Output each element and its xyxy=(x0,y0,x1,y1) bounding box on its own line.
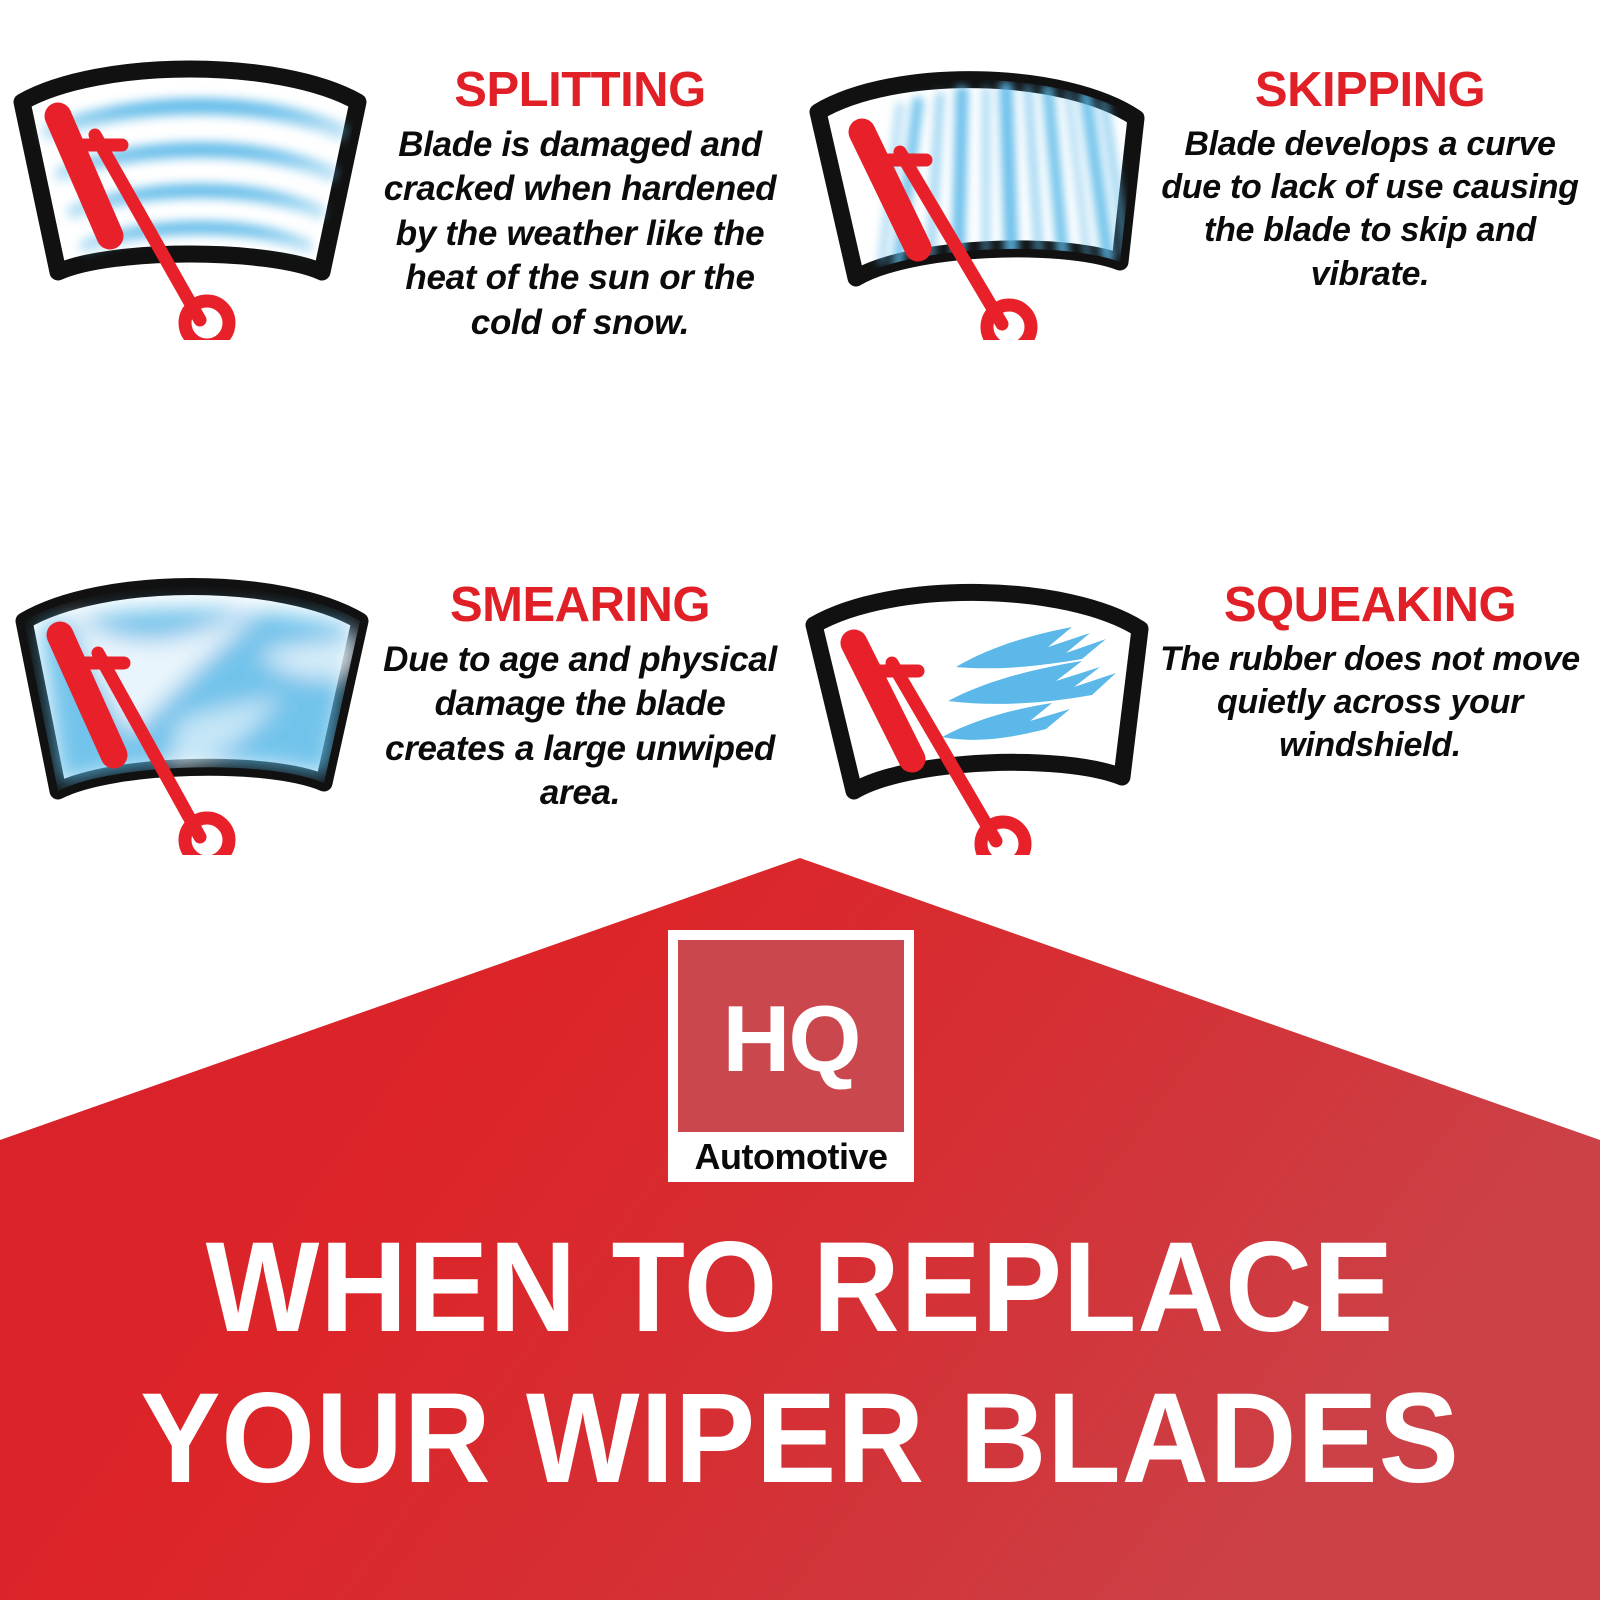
problem-card-squeaking: SQUEAKING The rubber does not move quiet… xyxy=(790,555,1590,855)
card-text-block: SQUEAKING The rubber does not move quiet… xyxy=(1150,555,1590,768)
problem-card-smearing: SMEARING Due to age and physical damage … xyxy=(10,555,790,855)
windshield-wiper-squeaking-icon xyxy=(790,555,1150,855)
hq-automotive-logo: HQ Automotive xyxy=(668,930,914,1182)
card-text-block: SKIPPING Blade develops a curve due to l… xyxy=(1150,40,1590,296)
infographic-root: SPLITTING Blade is damaged and cracked w… xyxy=(0,0,1600,1600)
card-title: SQUEAKING xyxy=(1150,581,1590,630)
problem-cards-grid: SPLITTING Blade is damaged and cracked w… xyxy=(0,0,1600,860)
logo-subtitle: Automotive xyxy=(678,1132,904,1182)
problem-card-skipping: SKIPPING Blade develops a curve due to l… xyxy=(790,40,1590,340)
problem-card-splitting: SPLITTING Blade is damaged and cracked w… xyxy=(10,40,790,345)
windshield-wiper-smearing-icon xyxy=(10,555,370,855)
windshield-wiper-skipping-icon xyxy=(790,40,1150,340)
card-description: The rubber does not move quietly across … xyxy=(1150,638,1590,768)
headline-line-2: YOUR WIPER BLADES xyxy=(48,1363,1552,1514)
headline-line-1: WHEN TO REPLACE xyxy=(48,1212,1552,1363)
logo-mark-panel: HQ xyxy=(678,940,904,1132)
card-description: Blade develops a curve due to lack of us… xyxy=(1150,123,1590,296)
card-description: Blade is damaged and cracked when harden… xyxy=(370,123,790,345)
card-title: SMEARING xyxy=(370,581,790,630)
card-title: SPLITTING xyxy=(370,66,790,115)
headline: WHEN TO REPLACE YOUR WIPER BLADES xyxy=(0,1212,1600,1514)
card-text-block: SPLITTING Blade is damaged and cracked w… xyxy=(370,40,790,345)
logo-mark-text: HQ xyxy=(723,992,860,1086)
card-title: SKIPPING xyxy=(1150,66,1590,115)
windshield-wiper-splitting-icon xyxy=(10,40,370,340)
card-description: Due to age and physical damage the blade… xyxy=(370,638,790,816)
card-text-block: SMEARING Due to age and physical damage … xyxy=(370,555,790,816)
